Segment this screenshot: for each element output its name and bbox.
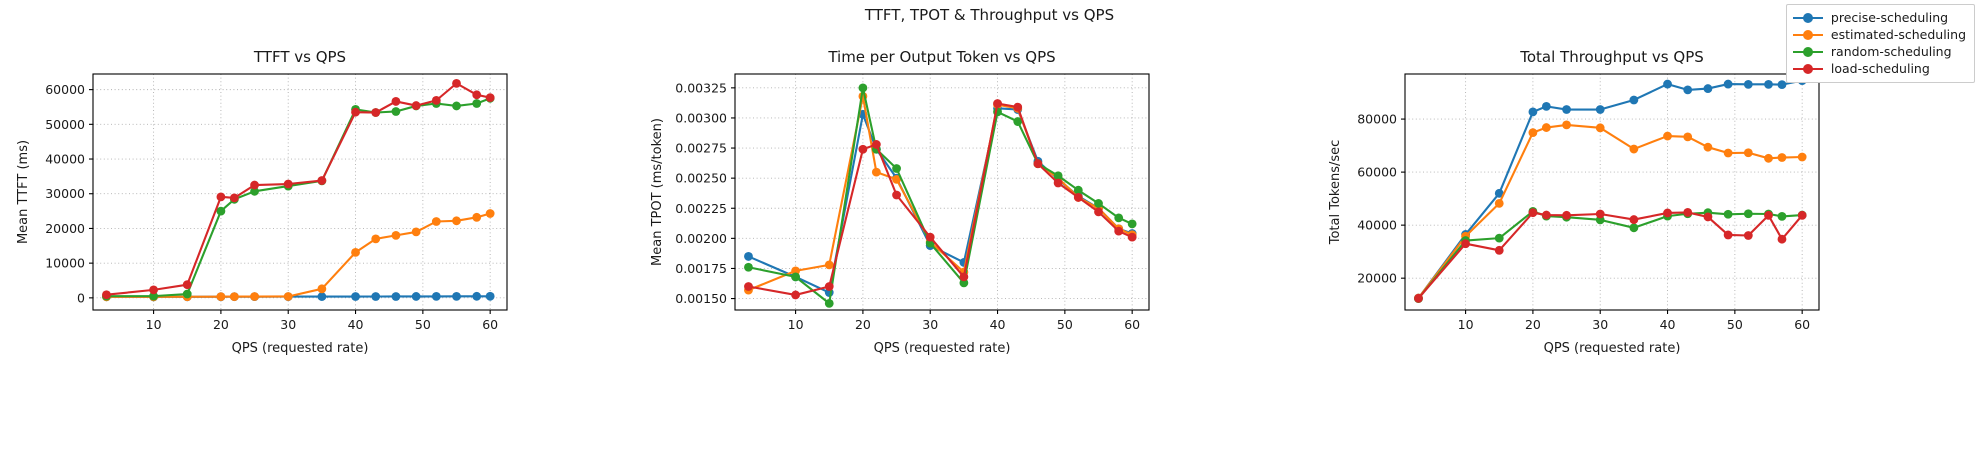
data-point-estimated-scheduling [392,231,401,240]
data-point-estimated-scheduling [1495,199,1504,208]
data-point-precise-scheduling [432,292,441,301]
data-point-load-scheduling [392,97,401,106]
data-point-random-scheduling [859,83,868,92]
data-point-estimated-scheduling [1744,148,1753,157]
data-point-load-scheduling [1054,179,1063,188]
data-point-precise-scheduling [1529,108,1538,117]
y-tick-label: 20000 [1357,271,1397,286]
data-point-estimated-scheduling [230,292,239,301]
y-tick-label: 50000 [45,117,85,132]
data-point-load-scheduling [892,191,901,200]
data-point-precise-scheduling [472,292,481,301]
data-point-load-scheduling [825,282,834,291]
data-point-precise-scheduling [1562,105,1571,114]
y-tick-label: 0.00175 [675,261,727,276]
data-point-load-scheduling [1562,211,1571,220]
x-tick-label: 10 [146,317,162,332]
data-point-precise-scheduling [1724,80,1733,89]
data-point-load-scheduling [1461,239,1470,248]
data-point-estimated-scheduling [825,260,834,269]
axes-tpot: Time per Output Token vs QPS102030405060… [650,48,1149,356]
x-tick-label: 20 [1525,317,1541,332]
data-point-precise-scheduling [1629,96,1638,105]
data-point-precise-scheduling [1744,80,1753,89]
data-point-estimated-scheduling [317,284,326,293]
legend-item-precise-scheduling[interactable]: precise-scheduling [1793,9,1966,26]
data-point-precise-scheduling [371,292,380,301]
data-point-load-scheduling [1529,208,1538,217]
data-point-estimated-scheduling [1529,128,1538,137]
data-point-load-scheduling [371,108,380,117]
data-point-precise-scheduling [351,292,360,301]
data-point-estimated-scheduling [284,292,293,301]
data-point-load-scheduling [926,233,935,242]
data-point-estimated-scheduling [432,217,441,226]
x-tick-label: 40 [348,317,364,332]
data-point-estimated-scheduling [1542,123,1551,132]
data-point-precise-scheduling [1596,105,1605,114]
y-tick-label: 60000 [45,82,85,97]
x-tick-label: 40 [990,317,1006,332]
series-line-precise-scheduling [748,108,1132,292]
data-point-precise-scheduling [1542,102,1551,111]
data-point-random-scheduling [183,290,192,299]
data-point-load-scheduling [412,101,421,110]
legend-item-label: estimated-scheduling [1831,27,1966,42]
data-point-precise-scheduling [392,292,401,301]
series-line-estimated-scheduling [106,214,490,297]
data-point-random-scheduling [1094,199,1103,208]
x-tick-label: 60 [1794,317,1810,332]
legend-item-random-scheduling[interactable]: random-scheduling [1793,43,1966,60]
axes-title-ttft: TTFT vs QPS [253,48,346,66]
legend-marker-icon [1793,11,1823,25]
data-point-estimated-scheduling [1764,154,1773,163]
data-point-estimated-scheduling [1663,132,1672,141]
data-point-random-scheduling [1629,223,1638,232]
data-point-load-scheduling [317,176,326,185]
data-point-precise-scheduling [744,252,753,261]
y-tick-label: 0.00250 [675,171,727,186]
x-tick-label: 60 [1124,317,1140,332]
data-point-estimated-scheduling [217,292,226,301]
data-point-load-scheduling [452,79,461,88]
data-point-load-scheduling [859,145,868,154]
y-tick-label: 40000 [1357,218,1397,233]
plots-svg: TTFT vs QPS10203040506001000020000300004… [0,0,1979,455]
data-point-random-scheduling [1724,210,1733,219]
data-point-load-scheduling [1683,208,1692,217]
data-point-estimated-scheduling [1629,145,1638,154]
x-tick-label: 30 [922,317,938,332]
data-point-load-scheduling [1414,294,1423,303]
legend-item-load-scheduling[interactable]: load-scheduling [1793,60,1966,77]
data-point-precise-scheduling [486,292,495,301]
data-point-load-scheduling [1798,211,1807,220]
data-point-load-scheduling [1704,213,1713,222]
data-point-load-scheduling [1596,210,1605,219]
data-point-load-scheduling [1663,209,1672,218]
data-point-precise-scheduling [412,292,421,301]
data-point-load-scheduling [486,93,495,102]
data-point-load-scheduling [959,272,968,281]
data-point-load-scheduling [1542,211,1551,220]
y-tick-label: 0.00325 [675,80,727,95]
data-point-precise-scheduling [1704,84,1713,93]
y-tick-label: 30000 [45,186,85,201]
y-tick-label: 40000 [45,152,85,167]
x-tick-label: 30 [280,317,296,332]
data-point-load-scheduling [1013,103,1022,112]
data-point-random-scheduling [1495,234,1504,243]
data-point-precise-scheduling [317,292,326,301]
data-point-load-scheduling [1629,215,1638,224]
data-point-estimated-scheduling [872,168,881,177]
data-point-estimated-scheduling [1724,149,1733,158]
data-point-estimated-scheduling [1704,143,1713,152]
x-axis-label-tpot: QPS (requested rate) [874,341,1011,356]
axes-ttft: TTFT vs QPS10203040506001000020000300004… [16,48,507,356]
data-point-load-scheduling [993,99,1002,108]
axes-title-throughput: Total Throughput vs QPS [1519,48,1704,66]
data-point-load-scheduling [1495,246,1504,255]
data-point-load-scheduling [230,194,239,203]
axes-throughput: Total Throughput vs QPS10203040506020000… [1328,48,1819,356]
data-point-estimated-scheduling [1778,153,1787,162]
y-tick-label: 80000 [1357,112,1397,127]
data-point-estimated-scheduling [1596,123,1605,132]
figure-canvas: TTFT, TPOT & Throughput vs QPS TTFT vs Q… [0,0,1979,455]
axes-frame [1405,74,1819,310]
data-point-random-scheduling [392,107,401,116]
data-point-load-scheduling [1074,193,1083,202]
series-line-estimated-scheduling [748,96,1132,290]
legend-item-label: load-scheduling [1831,61,1930,76]
data-point-load-scheduling [1114,227,1123,236]
y-axis-label-ttft: Mean TTFT (ms) [16,140,31,244]
x-axis-label-throughput: QPS (requested rate) [1544,341,1681,356]
data-point-load-scheduling [432,96,441,105]
y-tick-label: 0.00275 [675,141,727,156]
data-point-random-scheduling [1778,212,1787,221]
y-axis-label-throughput: Total Tokens/sec [1328,140,1343,246]
y-tick-label: 10000 [45,256,85,271]
data-point-random-scheduling [825,299,834,308]
data-point-precise-scheduling [1764,80,1773,89]
x-tick-label: 30 [1592,317,1608,332]
data-point-precise-scheduling [452,292,461,301]
data-point-load-scheduling [102,290,111,299]
data-point-load-scheduling [284,180,293,189]
data-point-estimated-scheduling [412,228,421,237]
series-line-random-scheduling [1418,211,1802,298]
data-point-load-scheduling [1724,231,1733,240]
axes-frame [93,74,507,310]
data-point-load-scheduling [872,140,881,149]
data-point-estimated-scheduling [452,216,461,225]
data-point-load-scheduling [1744,231,1753,240]
data-point-estimated-scheduling [371,234,380,243]
x-tick-label: 20 [855,317,871,332]
data-point-estimated-scheduling [351,248,360,257]
x-tick-label: 10 [1458,317,1474,332]
y-tick-label: 0.00150 [675,291,727,306]
data-point-load-scheduling [1128,233,1137,242]
x-axis-label-ttft: QPS (requested rate) [232,341,369,356]
data-point-estimated-scheduling [472,213,481,222]
data-point-random-scheduling [1128,220,1137,229]
data-point-random-scheduling [744,263,753,272]
y-tick-label: 0.00300 [675,110,727,125]
data-point-random-scheduling [1744,209,1753,218]
data-point-random-scheduling [452,102,461,111]
series-line-precise-scheduling [1418,81,1802,298]
data-point-load-scheduling [1764,211,1773,220]
data-point-random-scheduling [472,99,481,108]
data-point-precise-scheduling [1663,80,1672,89]
y-tick-label: 0 [77,290,85,305]
data-point-load-scheduling [1034,159,1043,168]
legend: precise-schedulingestimated-schedulingra… [1786,4,1975,83]
data-point-estimated-scheduling [1798,153,1807,162]
y-axis-label-tpot: Mean TPOT (ms/token) [650,118,665,266]
data-point-load-scheduling [351,108,360,117]
y-tick-label: 20000 [45,221,85,236]
data-point-load-scheduling [1778,235,1787,244]
data-point-load-scheduling [744,282,753,291]
legend-marker-icon [1793,28,1823,42]
legend-marker-icon [1793,62,1823,76]
x-tick-label: 50 [1057,317,1073,332]
x-tick-label: 50 [415,317,431,332]
x-tick-label: 50 [1727,317,1743,332]
x-tick-label: 60 [482,317,498,332]
data-point-precise-scheduling [1683,86,1692,95]
y-tick-label: 60000 [1357,165,1397,180]
data-point-estimated-scheduling [1683,132,1692,141]
data-point-load-scheduling [791,291,800,300]
data-point-estimated-scheduling [1562,121,1571,130]
data-point-estimated-scheduling [250,292,259,301]
x-tick-label: 10 [788,317,804,332]
legend-item-estimated-scheduling[interactable]: estimated-scheduling [1793,26,1966,43]
series-line-random-scheduling [106,98,490,296]
data-point-estimated-scheduling [486,209,495,218]
data-point-load-scheduling [149,285,158,294]
y-tick-label: 0.00225 [675,201,727,216]
legend-marker-icon [1793,45,1823,59]
data-point-load-scheduling [217,192,226,201]
data-point-random-scheduling [217,207,226,216]
data-point-random-scheduling [1114,213,1123,222]
legend-item-label: random-scheduling [1831,44,1952,59]
x-tick-label: 40 [1660,317,1676,332]
data-point-load-scheduling [183,280,192,289]
y-tick-label: 0.00200 [675,231,727,246]
data-point-load-scheduling [472,90,481,99]
data-point-precise-scheduling [1778,80,1787,89]
data-point-load-scheduling [1094,207,1103,216]
figure-suptitle: TTFT, TPOT & Throughput vs QPS [0,6,1979,24]
data-point-random-scheduling [791,272,800,281]
data-point-load-scheduling [250,181,259,190]
axes-title-tpot: Time per Output Token vs QPS [827,48,1055,66]
data-point-random-scheduling [892,164,901,173]
x-tick-label: 20 [213,317,229,332]
legend-item-label: precise-scheduling [1831,10,1948,25]
